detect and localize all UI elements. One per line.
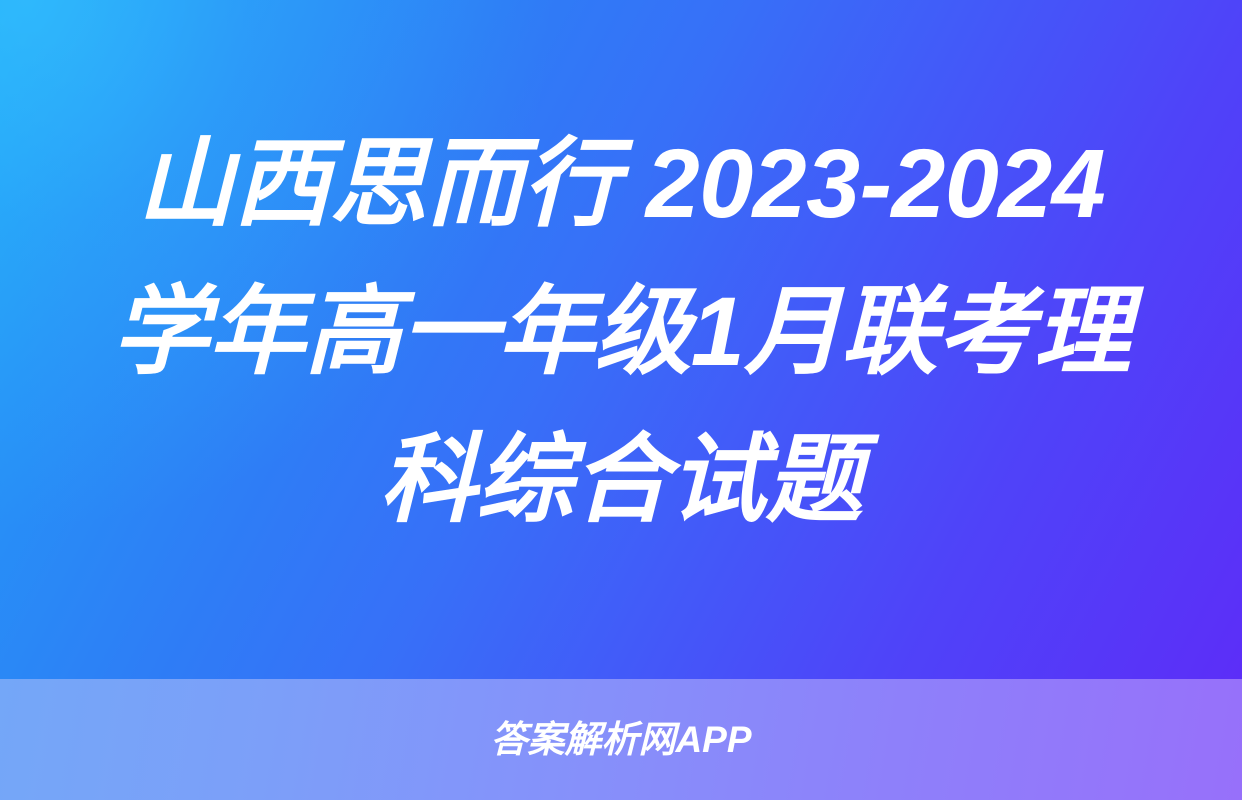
page-title-line-1: 山西思而行 2023-2024 <box>60 110 1182 258</box>
page-title-line-2: 学年高一年级1月联考理 <box>60 258 1182 406</box>
exam-cover-card: 山西思而行 2023-2024 学年高一年级1月联考理 科综合试题 答案解析网A… <box>0 0 1242 800</box>
footer-brand-band: 答案解析网APP <box>0 679 1242 800</box>
page-title-line-3: 科综合试题 <box>60 406 1182 554</box>
page-title: 山西思而行 2023-2024 学年高一年级1月联考理 科综合试题 <box>0 0 1242 679</box>
brand-watermark-label: 答案解析网APP <box>490 721 751 758</box>
